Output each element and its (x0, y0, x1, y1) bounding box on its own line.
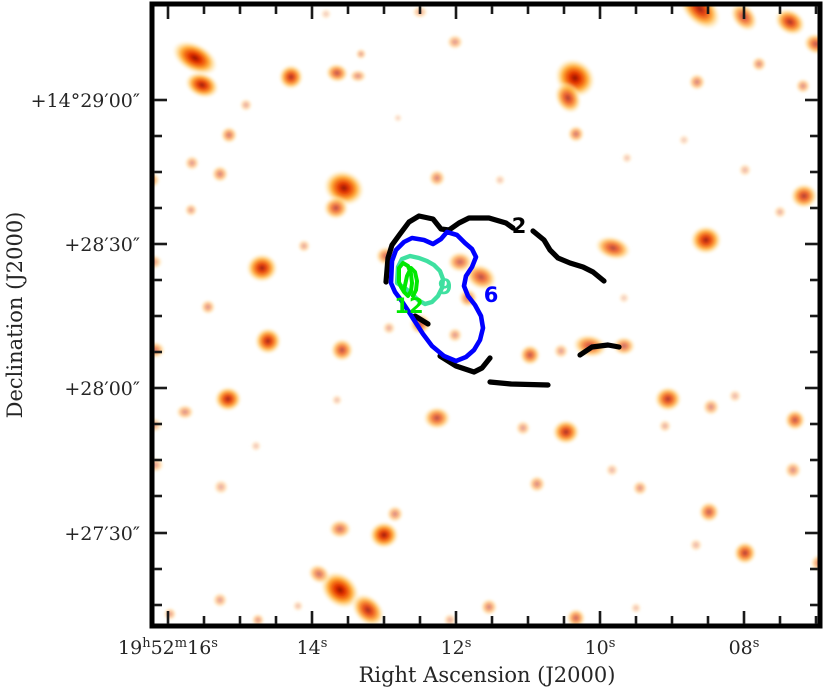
contour-label-12: 12 (394, 294, 423, 318)
radio-source (369, 521, 400, 549)
radio-source (184, 155, 200, 171)
radio-source (790, 183, 819, 209)
radio-source (246, 253, 279, 283)
radio-source (528, 475, 546, 493)
radio-source (423, 406, 452, 430)
radio-source (688, 73, 706, 91)
contour-label-2: 2 (512, 214, 527, 238)
radio-source (689, 538, 703, 552)
radio-source (447, 327, 463, 343)
radio-source (297, 239, 311, 253)
radio-source (728, 389, 742, 403)
y-tick-label-2: +28′00″ (64, 378, 140, 400)
radio-source (733, 541, 757, 565)
radio-source (632, 480, 648, 496)
radio-source (239, 98, 253, 112)
y-tick-label-1: +28′30″ (64, 234, 140, 256)
radio-source (163, 607, 177, 621)
radio-source (702, 398, 720, 416)
x-tick-label-0: 19h52m16s (118, 636, 218, 660)
y-tick-label-0: +14°29′00″ (31, 90, 140, 112)
radio-source (552, 419, 581, 445)
radio-source (738, 163, 752, 177)
radio-source (618, 292, 630, 304)
radio-source (446, 34, 464, 50)
radio-source (515, 420, 531, 436)
radio-source (184, 203, 198, 217)
radio-source (323, 196, 349, 220)
radio-source (605, 463, 619, 477)
radio-source (212, 592, 228, 608)
contour-label-6: 6 (484, 283, 499, 307)
radio-source (567, 125, 585, 143)
astronomical-figure: 19h52m16s14s12s10s08s+14°29′00″+28′30″+2… (0, 0, 830, 694)
radio-source (630, 602, 642, 614)
radio-source (250, 440, 262, 452)
radio-source (220, 126, 238, 144)
radio-source (784, 461, 802, 479)
y-tick-label-3: +27′30″ (64, 523, 140, 545)
radio-source (175, 404, 194, 420)
radio-source (795, 78, 811, 94)
radio-source (213, 479, 229, 495)
radio-source (784, 409, 806, 431)
contour-label-9: 9 (438, 275, 453, 299)
radio-source (331, 394, 343, 406)
radio-source (200, 299, 216, 315)
radio-source (214, 386, 243, 412)
radio-source (773, 205, 787, 219)
radio-source (320, 8, 332, 20)
radio-source (386, 505, 404, 523)
radio-source (328, 519, 352, 539)
radio-source (382, 321, 396, 335)
radio-source (621, 152, 633, 164)
radio-source (698, 501, 720, 523)
radio-source (494, 174, 506, 186)
radio-source (480, 598, 498, 616)
radio-source (658, 419, 672, 433)
radio-source (519, 344, 541, 366)
radio-source (690, 225, 723, 255)
radio-source (678, 134, 690, 146)
radio-source (349, 69, 367, 83)
radio-source (654, 386, 683, 412)
image-plane (139, 0, 830, 634)
radio-source (553, 343, 569, 359)
radio-source (355, 48, 367, 60)
x-axis-label: Right Ascension (J2000) (359, 663, 616, 687)
radio-source (278, 64, 304, 90)
radio-source (211, 165, 229, 183)
radio-source (428, 169, 446, 187)
figure-container: 19h52m16s14s12s10s08s+14°29′00″+28′30″+2… (0, 0, 830, 694)
radio-source (751, 56, 767, 72)
image-canvas (152, 4, 820, 626)
radio-source (254, 327, 282, 355)
radio-source (393, 113, 403, 123)
radio-source (330, 338, 354, 362)
y-axis-label: Declination (J2000) (3, 212, 27, 419)
radio-source (292, 600, 304, 612)
contour-segment-level-2-4 (490, 382, 548, 385)
